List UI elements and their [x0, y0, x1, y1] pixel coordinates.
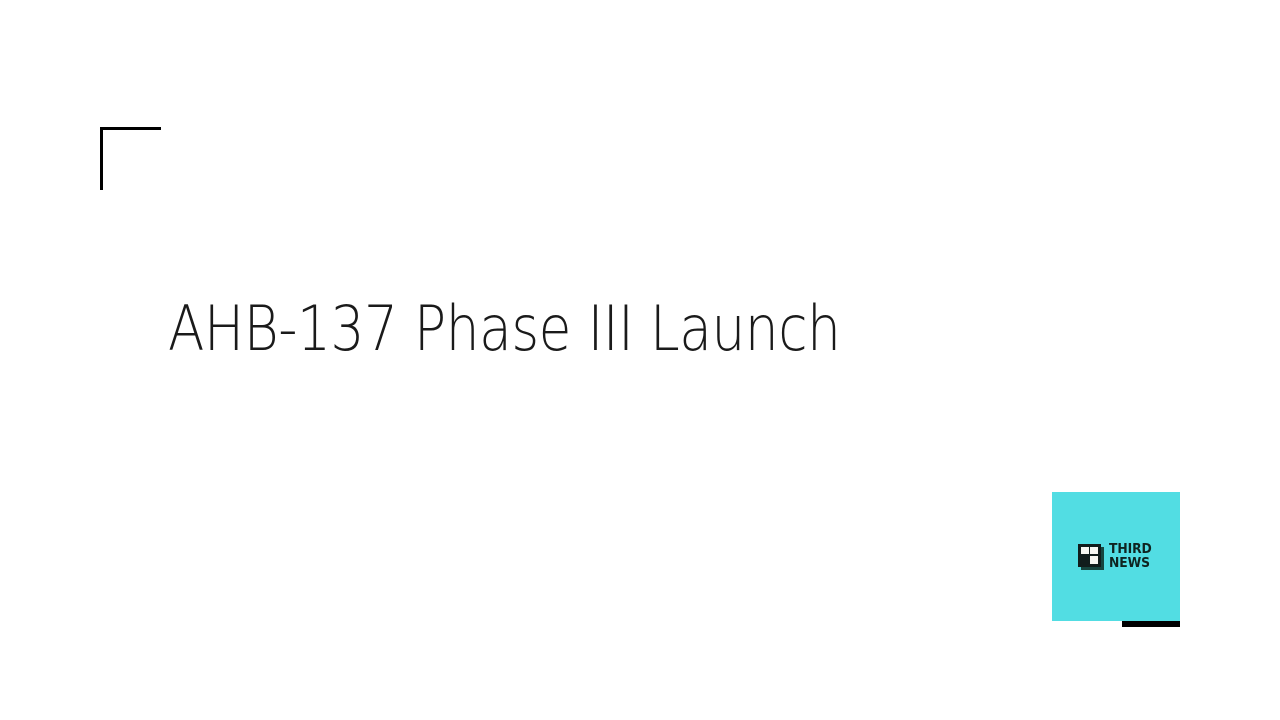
logo-lockup: THIRD NEWS [1052, 492, 1181, 628]
logo-wordmark: THIRD NEWS [1109, 543, 1152, 570]
logo-wordmark-line-1: THIRD [1109, 543, 1152, 556]
newspaper-window-icon [1078, 544, 1104, 570]
newspaper-window-icon-grid [1081, 547, 1098, 564]
logo-tile: THIRD NEWS [1052, 492, 1180, 621]
logo-wordmark-line-2: NEWS [1109, 557, 1152, 570]
grid-cell-bottom-right [1090, 556, 1098, 564]
title-block: AHB-137 Phase III Launch [168, 296, 1068, 361]
grid-cell-top-left [1081, 547, 1089, 555]
grid-cell-bottom-left [1081, 556, 1089, 564]
title-slide: AHB-137 Phase III Launch [0, 0, 1280, 720]
newspaper-window-icon-body [1078, 544, 1101, 567]
page-title: AHB-137 Phase III Launch [168, 296, 942, 361]
logo-inner: THIRD NEWS [1078, 543, 1154, 570]
grid-cell-top-right [1090, 547, 1098, 555]
corner-bracket-icon [100, 127, 161, 190]
